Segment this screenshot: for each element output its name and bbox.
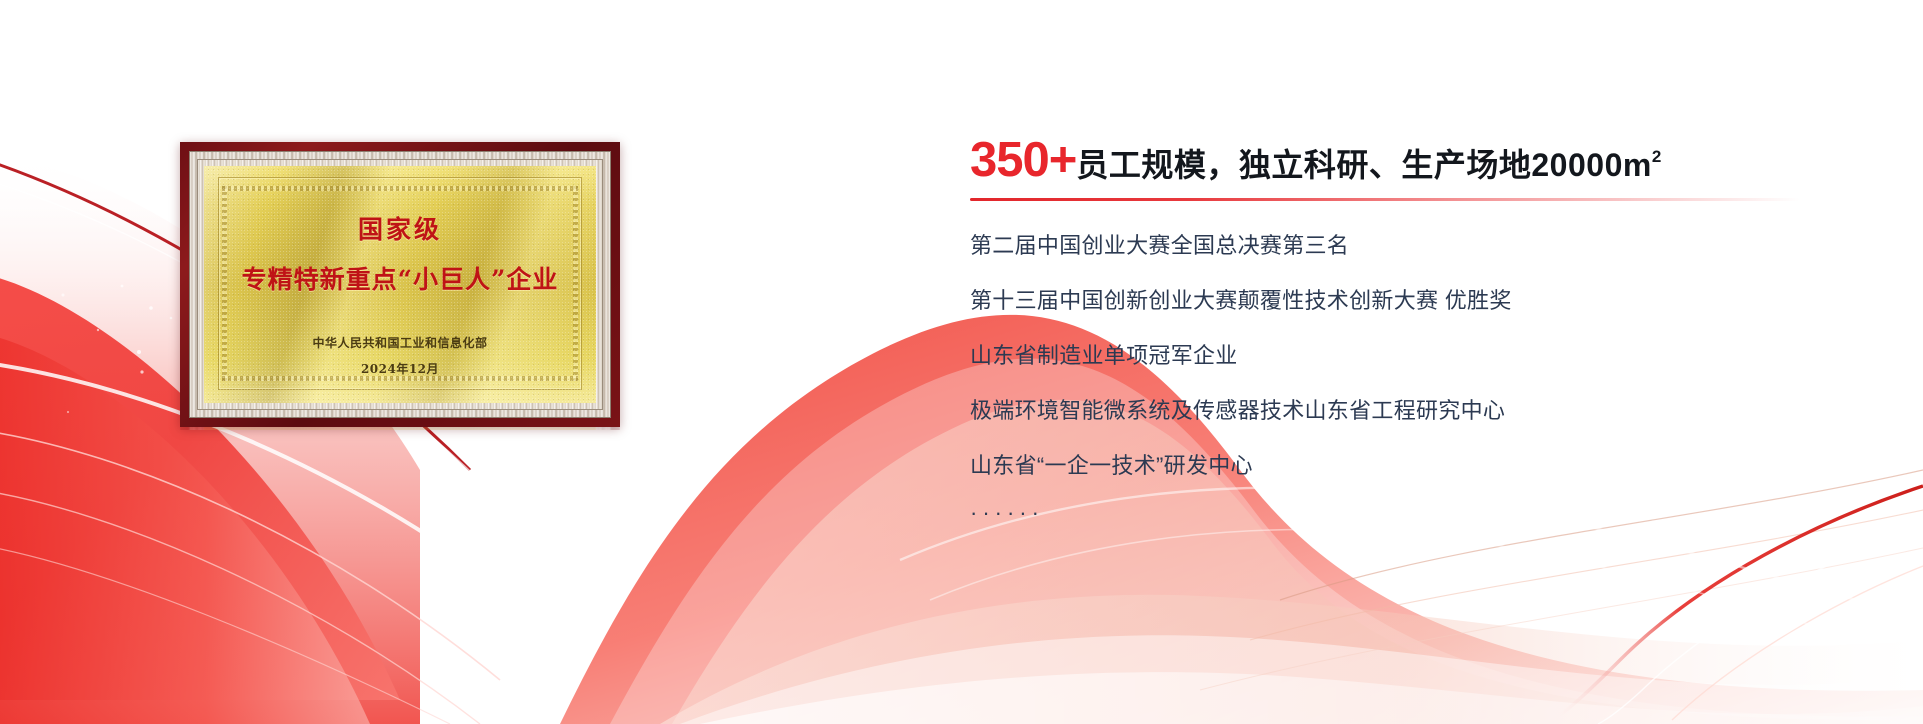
list-item: 第十三届中国创新创业大赛颠覆性技术创新大赛 优胜奖: [970, 286, 1850, 315]
headline: 350+ 员工规模，独立科研、生产场地20000m 2: [970, 136, 1850, 185]
list-item: 第二届中国创业大赛全国总决赛第三名: [970, 231, 1850, 260]
list-item: 山东省“一企一技术”研发中心: [970, 451, 1850, 480]
headline-divider-rule: [970, 198, 1800, 201]
plaque-text-block: 国家级 专精特新重点“小巨人”企业 中华人民共和国工业和信息化部 2024年12…: [204, 166, 596, 403]
plaque-title-line-1: 国家级: [358, 210, 442, 246]
achievements-list: 第二届中国创业大赛全国总决赛第三名 第十三届中国创新创业大赛颠覆性技术创新大赛 …: [970, 231, 1850, 480]
headline-number: 350+: [970, 136, 1076, 185]
list-item: 极端环境智能微系统及传感器技术山东省工程研究中心: [970, 396, 1850, 425]
award-plaque: 国家级 专精特新重点“小巨人”企业 中华人民共和国工业和信息化部 2024年12…: [180, 142, 620, 427]
achievements-ellipsis: ······: [970, 500, 1850, 526]
content-column: 350+ 员工规模，独立科研、生产场地20000m 2 第二届中国创业大赛全国总…: [970, 136, 1850, 526]
plaque-frame: 国家级 专精特新重点“小巨人”企业 中华人民共和国工业和信息化部 2024年12…: [180, 142, 620, 427]
plaque-issuer: 中华人民共和国工业和信息化部: [312, 334, 487, 351]
headline-superscript: 2: [1652, 147, 1661, 167]
headline-text: 员工规模，独立科研、生产场地20000m: [1076, 149, 1651, 181]
banner-stage: 国家级 专精特新重点“小巨人”企业 中华人民共和国工业和信息化部 2024年12…: [0, 0, 1923, 724]
plaque-title-line-2: 专精特新重点“小巨人”企业: [242, 260, 559, 296]
plaque-date: 2024年12月: [361, 360, 439, 377]
list-item: 山东省制造业单项冠军企业: [970, 341, 1850, 370]
